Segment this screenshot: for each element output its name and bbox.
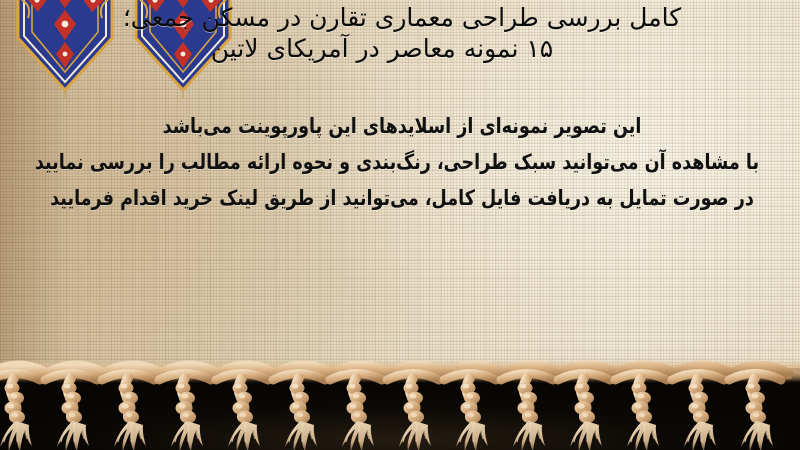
tassel-item [501,374,553,450]
tassel-item [558,374,610,450]
slide-canvas: کامل بررسی طراحی معماری تقارن در مسکن جم… [0,0,800,450]
carpet-fringe-tassels [0,352,800,450]
tassel-item [444,374,496,450]
tassel-item [159,374,211,450]
tassel-item [330,374,382,450]
slide-title-line-1: کامل بررسی طراحی معماری تقارن در مسکن جم… [22,2,782,33]
slide-title-line-2: ۱۵ نمونه معاصر در آمریکای لاتین [22,33,782,64]
tassel-item [0,374,40,450]
slide-title: کامل بررسی طراحی معماری تقارن در مسکن جم… [22,2,782,64]
tassel-item [615,374,667,450]
tassel-item [216,374,268,450]
slide-body: این تصویر نمونه‌ای از اسلایدهای این پاور… [18,108,786,216]
tassel-item [729,374,781,450]
tassel-item [273,374,325,450]
body-line-sample-notice: این تصویر نمونه‌ای از اسلایدهای این پاور… [45,108,759,144]
tassel-item [102,374,154,450]
body-line-purchase-notice: در صورت تمایل به دریافت فایل کامل، می‌تو… [45,180,759,216]
tassel-item [672,374,724,450]
tassel-item [387,374,439,450]
tassel-item [45,374,97,450]
body-line-review-notice: با مشاهده آن می‌توانید سبک طراحی، رنگ‌بن… [45,144,759,180]
